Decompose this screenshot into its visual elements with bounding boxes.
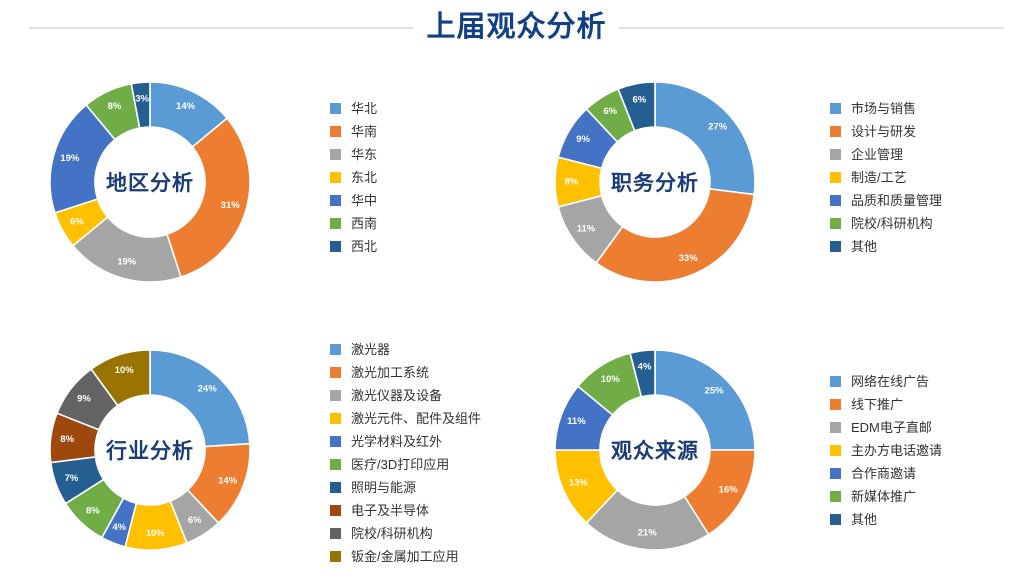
legend-swatch-icon — [330, 482, 341, 493]
legend-item[interactable]: EDM电子直邮 — [830, 416, 942, 439]
legend-swatch-icon — [330, 505, 341, 516]
chart-block-source: 25%16%21%13%11%10%4% 观众来源 网络在线广告线下推广EDM电… — [535, 330, 1025, 575]
legend-swatch-icon — [830, 445, 841, 456]
pie-slice — [167, 118, 250, 277]
title-rule-right — [619, 27, 1004, 29]
legend-item-label: 华东 — [351, 148, 377, 161]
legend-item-label: 院校/科研机构 — [851, 217, 933, 230]
pie-slice-label: 19% — [117, 257, 137, 268]
legend-item-label: 激光仪器及设备 — [351, 389, 442, 402]
page-title: 上届观众分析 — [426, 13, 606, 44]
pie-slice — [655, 350, 755, 450]
pie-slice-label: 25% — [705, 385, 725, 396]
pie-slice-label: 16% — [719, 485, 739, 496]
legend-item-label: 合作商邀请 — [851, 467, 916, 480]
pie-slice-label: 33% — [679, 253, 699, 264]
legend-item-label: 华北 — [351, 102, 377, 115]
legend-swatch-icon — [330, 126, 341, 137]
legend-industry: 激光器激光加工系统激光仪器及设备激光元件、配件及组件光学材料及红外医疗/3D打印… — [330, 338, 481, 568]
legend-item-label: 市场与销售 — [851, 102, 916, 115]
legend-role: 市场与销售设计与研发企业管理制造/工艺品质和质量管理院校/科研机构其他 — [830, 97, 942, 258]
chart-block-region: 14%31%19%6%19%8%3% 地区分析 华北华南华东东北华中西南西北 — [30, 62, 500, 307]
legend-item[interactable]: 新媒体推广 — [830, 485, 942, 508]
legend-swatch-icon — [330, 367, 341, 378]
legend-item[interactable]: 主办方电话邀请 — [830, 439, 942, 462]
legend-swatch-icon — [330, 551, 341, 562]
legend-item-label: 华南 — [351, 125, 377, 138]
pie-slice-label: 19% — [60, 153, 80, 164]
legend-item-label: 线下推广 — [851, 398, 903, 411]
pie-slice — [150, 350, 250, 447]
legend-swatch-icon — [330, 103, 341, 114]
page-header: 上届观众分析 — [0, 0, 1033, 56]
legend-item-label: 其他 — [851, 240, 877, 253]
legend-item-label: 激光加工系统 — [351, 366, 429, 379]
legend-swatch-icon — [830, 468, 841, 479]
legend-item[interactable]: 其他 — [830, 235, 942, 258]
legend-item-label: 光学材料及红外 — [351, 435, 442, 448]
pie-slice-label: 8% — [108, 101, 122, 112]
pie-slice-label: 7% — [65, 473, 79, 484]
legend-item[interactable]: 合作商邀请 — [830, 462, 942, 485]
legend-item[interactable]: 光学材料及红外 — [330, 430, 481, 453]
legend-item[interactable]: 华南 — [330, 120, 377, 143]
legend-region: 华北华南华东东北华中西南西北 — [330, 97, 377, 258]
legend-item[interactable]: 激光仪器及设备 — [330, 384, 481, 407]
legend-swatch-icon — [330, 528, 341, 539]
legend-swatch-icon — [830, 149, 841, 160]
legend-item-label: 西南 — [351, 217, 377, 230]
legend-item[interactable]: 照明与能源 — [330, 476, 481, 499]
donut-svg-industry: 24%14%6%10%4%8%7%8%9%10% — [30, 330, 270, 570]
legend-item[interactable]: 网络在线广告 — [830, 370, 942, 393]
pie-slice-label: 3% — [135, 93, 149, 104]
legend-swatch-icon — [330, 149, 341, 160]
legend-item-label: 企业管理 — [851, 148, 903, 161]
donut-chart-role: 27%33%11%8%9%6%6% 职务分析 — [535, 62, 775, 302]
legend-item[interactable]: 企业管理 — [830, 143, 942, 166]
pie-slice-label: 27% — [708, 121, 728, 132]
legend-item-label: 制造/工艺 — [851, 171, 907, 184]
legend-swatch-icon — [830, 491, 841, 502]
title-rule-left — [29, 27, 414, 29]
legend-item[interactable]: 医疗/3D打印应用 — [330, 453, 481, 476]
legend-swatch-icon — [330, 390, 341, 401]
legend-source: 网络在线广告线下推广EDM电子直邮主办方电话邀请合作商邀请新媒体推广其他 — [830, 370, 942, 531]
pie-slice-label: 13% — [569, 478, 589, 489]
legend-item-label: 院校/科研机构 — [351, 527, 433, 540]
legend-item[interactable]: 钣金/金属加工应用 — [330, 545, 481, 568]
legend-swatch-icon — [330, 459, 341, 470]
legend-item[interactable]: 院校/科研机构 — [330, 522, 481, 545]
pie-slice-label: 11% — [577, 223, 596, 234]
legend-item[interactable]: 激光加工系统 — [330, 361, 481, 384]
legend-swatch-icon — [330, 218, 341, 229]
pie-slice-label: 10% — [146, 528, 166, 539]
legend-swatch-icon — [830, 126, 841, 137]
legend-item[interactable]: 电子及半导体 — [330, 499, 481, 522]
legend-item-label: 其他 — [851, 513, 877, 526]
chart-block-industry: 24%14%6%10%4%8%7%8%9%10% 行业分析 激光器激光加工系统激… — [30, 330, 530, 575]
legend-item-label: 东北 — [351, 171, 377, 184]
legend-item[interactable]: 设计与研发 — [830, 120, 942, 143]
pie-slice-label: 4% — [638, 362, 652, 373]
pie-slice-label: 8% — [565, 177, 579, 188]
legend-swatch-icon — [330, 436, 341, 447]
pie-slice-label: 6% — [70, 217, 84, 228]
legend-item-label: EDM电子直邮 — [851, 421, 932, 434]
pie-slice — [596, 189, 754, 282]
donut-svg-region: 14%31%19%6%19%8%3% — [30, 62, 270, 302]
legend-item-label: 新媒体推广 — [851, 490, 916, 503]
legend-item-label: 网络在线广告 — [851, 375, 929, 388]
pie-slice-label: 24% — [198, 384, 218, 395]
legend-item-label: 主办方电话邀请 — [851, 444, 942, 457]
pie-slice-label: 14% — [218, 475, 238, 486]
legend-item[interactable]: 品质和质量管理 — [830, 189, 942, 212]
legend-swatch-icon — [330, 195, 341, 206]
legend-item[interactable]: 华中 — [330, 189, 377, 212]
donut-chart-region: 14%31%19%6%19%8%3% 地区分析 — [30, 62, 270, 302]
legend-swatch-icon — [330, 172, 341, 183]
pie-slice-label: 6% — [603, 106, 617, 117]
legend-item-label: 华中 — [351, 194, 377, 207]
legend-item-label: 医疗/3D打印应用 — [351, 458, 449, 471]
legend-swatch-icon — [830, 376, 841, 387]
legend-item[interactable]: 激光元件、配件及组件 — [330, 407, 481, 430]
legend-item-label: 电子及半导体 — [351, 504, 429, 517]
legend-swatch-icon — [830, 195, 841, 206]
legend-swatch-icon — [830, 172, 841, 183]
pie-slice-label: 21% — [638, 528, 658, 539]
legend-item-label: 照明与能源 — [351, 481, 416, 494]
pie-slice-label: 8% — [86, 505, 100, 516]
legend-item[interactable]: 线下推广 — [830, 393, 942, 416]
legend-item-label: 激光元件、配件及组件 — [351, 412, 481, 425]
donut-chart-source: 25%16%21%13%11%10%4% 观众来源 — [535, 330, 775, 570]
donut-svg-role: 27%33%11%8%9%6%6% — [535, 62, 775, 302]
pie-slice-label: 10% — [115, 365, 135, 376]
legend-item-label: 激光器 — [351, 343, 390, 356]
legend-item[interactable]: 市场与销售 — [830, 97, 942, 120]
pie-slice-label: 11% — [567, 416, 586, 427]
pie-slice — [655, 82, 755, 195]
legend-item[interactable]: 西南 — [330, 212, 377, 235]
chart-block-role: 27%33%11%8%9%6%6% 职务分析 市场与销售设计与研发企业管理制造/… — [535, 62, 1025, 307]
legend-item-label: 西北 — [351, 240, 377, 253]
legend-item[interactable]: 华北 — [330, 97, 377, 120]
pie-slice-label: 6% — [188, 515, 202, 526]
pie-slice-label: 8% — [60, 434, 74, 445]
legend-swatch-icon — [830, 241, 841, 252]
pie-slice-label: 6% — [632, 94, 646, 105]
legend-swatch-icon — [330, 344, 341, 355]
legend-swatch-icon — [830, 514, 841, 525]
legend-item[interactable]: 院校/科研机构 — [830, 212, 942, 235]
pie-slice-label: 9% — [77, 393, 91, 404]
donut-chart-industry: 24%14%6%10%4%8%7%8%9%10% 行业分析 — [30, 330, 270, 570]
legend-swatch-icon — [830, 399, 841, 410]
legend-item[interactable]: 华东 — [330, 143, 377, 166]
legend-swatch-icon — [330, 241, 341, 252]
pie-slice-label: 10% — [601, 374, 621, 385]
legend-item[interactable]: 其他 — [830, 508, 942, 531]
legend-item-label: 品质和质量管理 — [851, 194, 942, 207]
legend-swatch-icon — [330, 413, 341, 424]
legend-item[interactable]: 制造/工艺 — [830, 166, 942, 189]
legend-item-label: 钣金/金属加工应用 — [351, 550, 459, 563]
pie-slice-label: 14% — [176, 101, 196, 112]
pie-slice-label: 31% — [221, 200, 241, 211]
pie-slice-label: 9% — [576, 134, 590, 145]
legend-swatch-icon — [830, 422, 841, 433]
legend-item[interactable]: 激光器 — [330, 338, 481, 361]
donut-svg-source: 25%16%21%13%11%10%4% — [535, 330, 775, 570]
legend-item-label: 设计与研发 — [851, 125, 916, 138]
legend-swatch-icon — [830, 218, 841, 229]
pie-slice-label: 4% — [112, 522, 126, 533]
legend-item[interactable]: 东北 — [330, 166, 377, 189]
legend-item[interactable]: 西北 — [330, 235, 377, 258]
legend-swatch-icon — [830, 103, 841, 114]
